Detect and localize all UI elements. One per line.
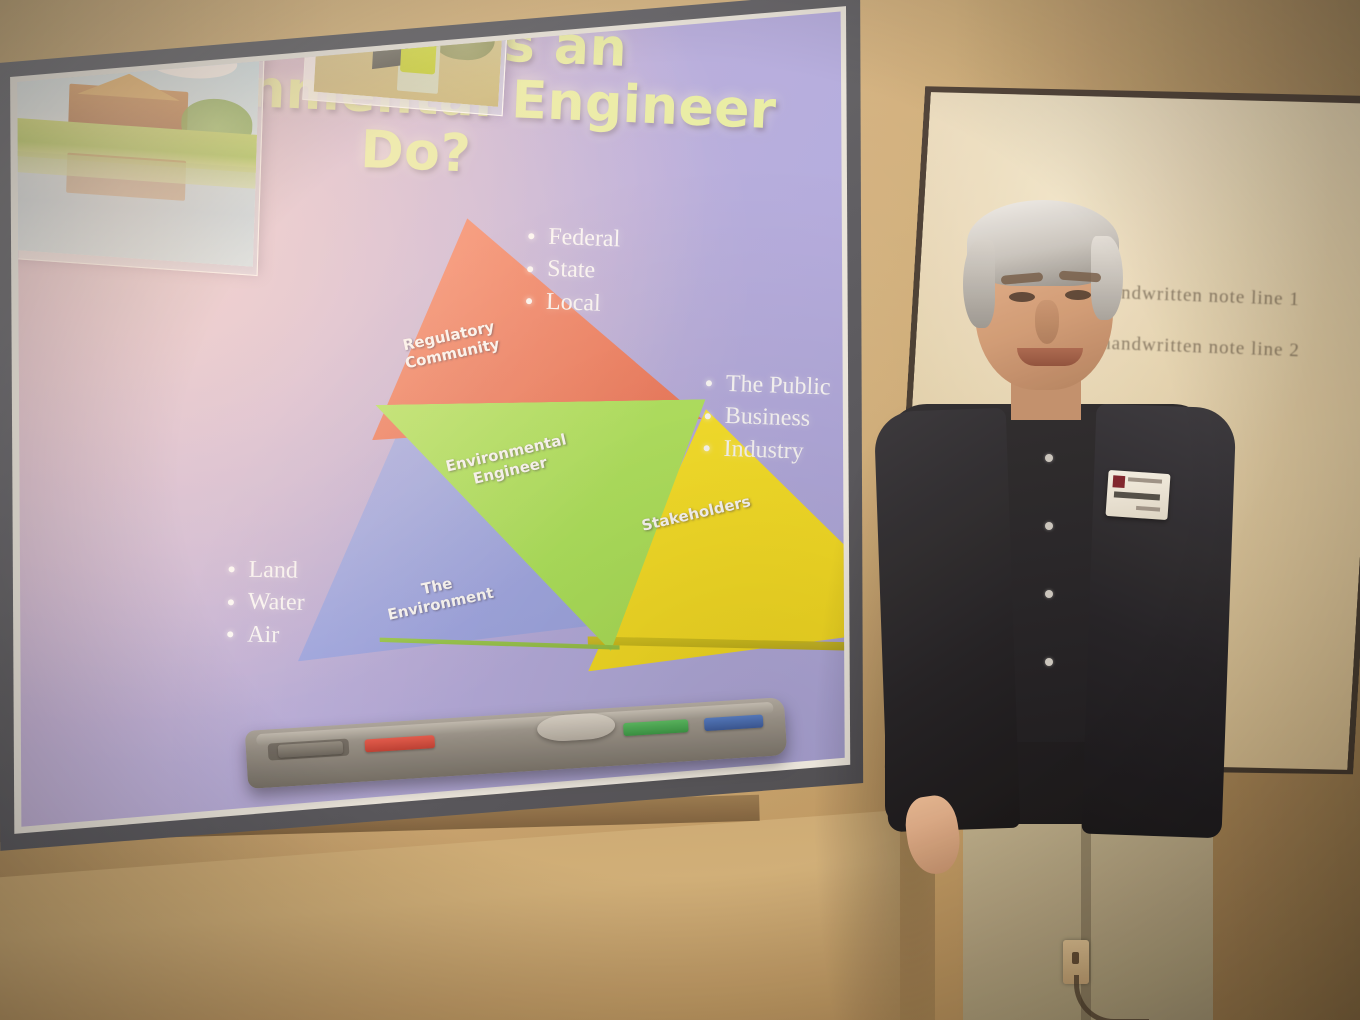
list-item: The Public — [699, 367, 831, 404]
photo-scene: What Does an Environmental Engineer Do? … — [0, 0, 1360, 1020]
list-item: State — [521, 252, 620, 288]
presenter-jacket-right — [1082, 404, 1237, 839]
presenter — [845, 196, 1325, 1020]
regulatory-bullets: Federal State Local — [519, 220, 620, 321]
stakeholder-bullets: The Public Business Industry — [697, 367, 831, 469]
name-badge — [1105, 470, 1170, 520]
list-item: Land — [222, 553, 305, 587]
presenter-jacket-left — [874, 408, 1021, 832]
list-item: Air — [221, 618, 304, 652]
list-item: Business — [698, 399, 830, 436]
list-item: Water — [222, 586, 305, 620]
list-item: Local — [519, 285, 618, 321]
presenter-hair-left — [963, 240, 995, 328]
presenter-eye-left — [1009, 292, 1035, 302]
presenter-eye-right — [1065, 290, 1091, 300]
list-item: Federal — [522, 220, 621, 256]
list-item: Industry — [697, 432, 829, 469]
presenter-mouth — [1017, 348, 1083, 366]
environment-bullets: Land Water Air — [221, 553, 306, 652]
presenter-nose — [1035, 300, 1059, 344]
